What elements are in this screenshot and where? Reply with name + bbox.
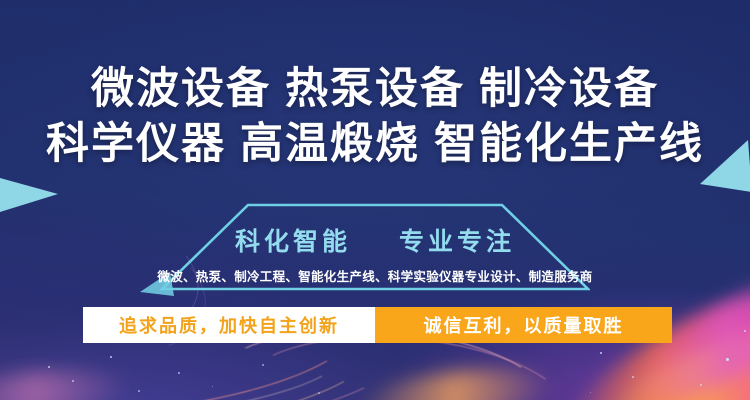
page-title: 微波设备 热泵设备 制冷设备 科学仪器 高温煅烧 智能化生产线	[0, 62, 750, 172]
slogan-left: 科化智能	[235, 228, 351, 256]
particle	[138, 390, 140, 392]
particle	[178, 372, 180, 374]
particle	[726, 358, 729, 361]
triangle-accent-left	[0, 178, 62, 219]
slogan-bars: 追求品质，加快自主创新 诚信互利，以质量取胜	[83, 307, 672, 343]
particle	[744, 330, 746, 332]
slogan-row: 科化智能 专业专注	[0, 222, 750, 258]
particle	[318, 392, 320, 394]
slogan-bar-quality: 追求品质，加快自主创新	[83, 307, 375, 343]
headline-line-2: 科学仪器 高温煅烧 智能化生产线	[0, 117, 750, 172]
particle	[632, 376, 634, 378]
headline-line-1: 微波设备 热泵设备 制冷设备	[0, 62, 750, 117]
particle	[72, 380, 74, 382]
promo-banner: 微波设备 热泵设备 制冷设备 科学仪器 高温煅烧 智能化生产线 科化智能 专业专…	[0, 0, 750, 400]
slogan-right: 专业专注	[399, 228, 515, 256]
particle	[700, 384, 702, 386]
subtitle: 微波、热泵、制冷工程、智能化生产线、科学实验仪器专业设计、制造服务商	[0, 266, 750, 285]
slogan-bar-integrity: 诚信互利，以质量取胜	[375, 307, 672, 343]
particle	[48, 366, 50, 368]
particle	[262, 364, 264, 366]
